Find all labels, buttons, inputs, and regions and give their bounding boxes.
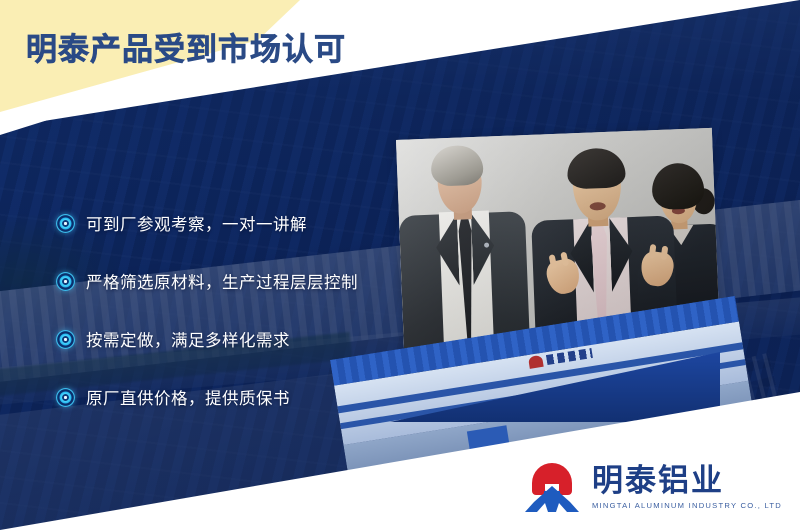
promotional-banner: 明泰产品受到市场认可 可到厂参观考察，一对一讲解 严格筛选原材料，生产过程层层控… (0, 0, 800, 530)
mingtai-sun-mountain-logo-icon (521, 462, 583, 514)
factory-wall-logo-icon (528, 355, 544, 369)
list-item: 可到厂参观考察，一对一讲解 (56, 212, 396, 234)
target-bullet-icon (56, 272, 75, 291)
list-item: 按需定做，满足多样化需求 (56, 328, 396, 350)
target-bullet-icon (56, 214, 75, 233)
company-logo: 明泰铝业 MINGTAI ALUMINUM INDUSTRY CO., LTD (521, 462, 782, 514)
list-item: 严格筛选原材料，生产过程层层控制 (56, 270, 396, 292)
target-bullet-icon (56, 330, 75, 349)
logo-name-cn: 明泰铝业 (592, 466, 782, 498)
target-bullet-icon (56, 388, 75, 407)
page-title: 明泰产品受到市场认可 (26, 24, 346, 69)
feature-text: 原厂直供价格，提供质保书 (86, 385, 290, 409)
feature-text: 按需定做，满足多样化需求 (86, 327, 290, 351)
feature-text: 严格筛选原材料，生产过程层层控制 (86, 269, 358, 293)
feature-text: 可到厂参观考察，一对一讲解 (86, 211, 307, 235)
logo-name-en: MINGTAI ALUMINUM INDUSTRY CO., LTD (592, 501, 782, 510)
